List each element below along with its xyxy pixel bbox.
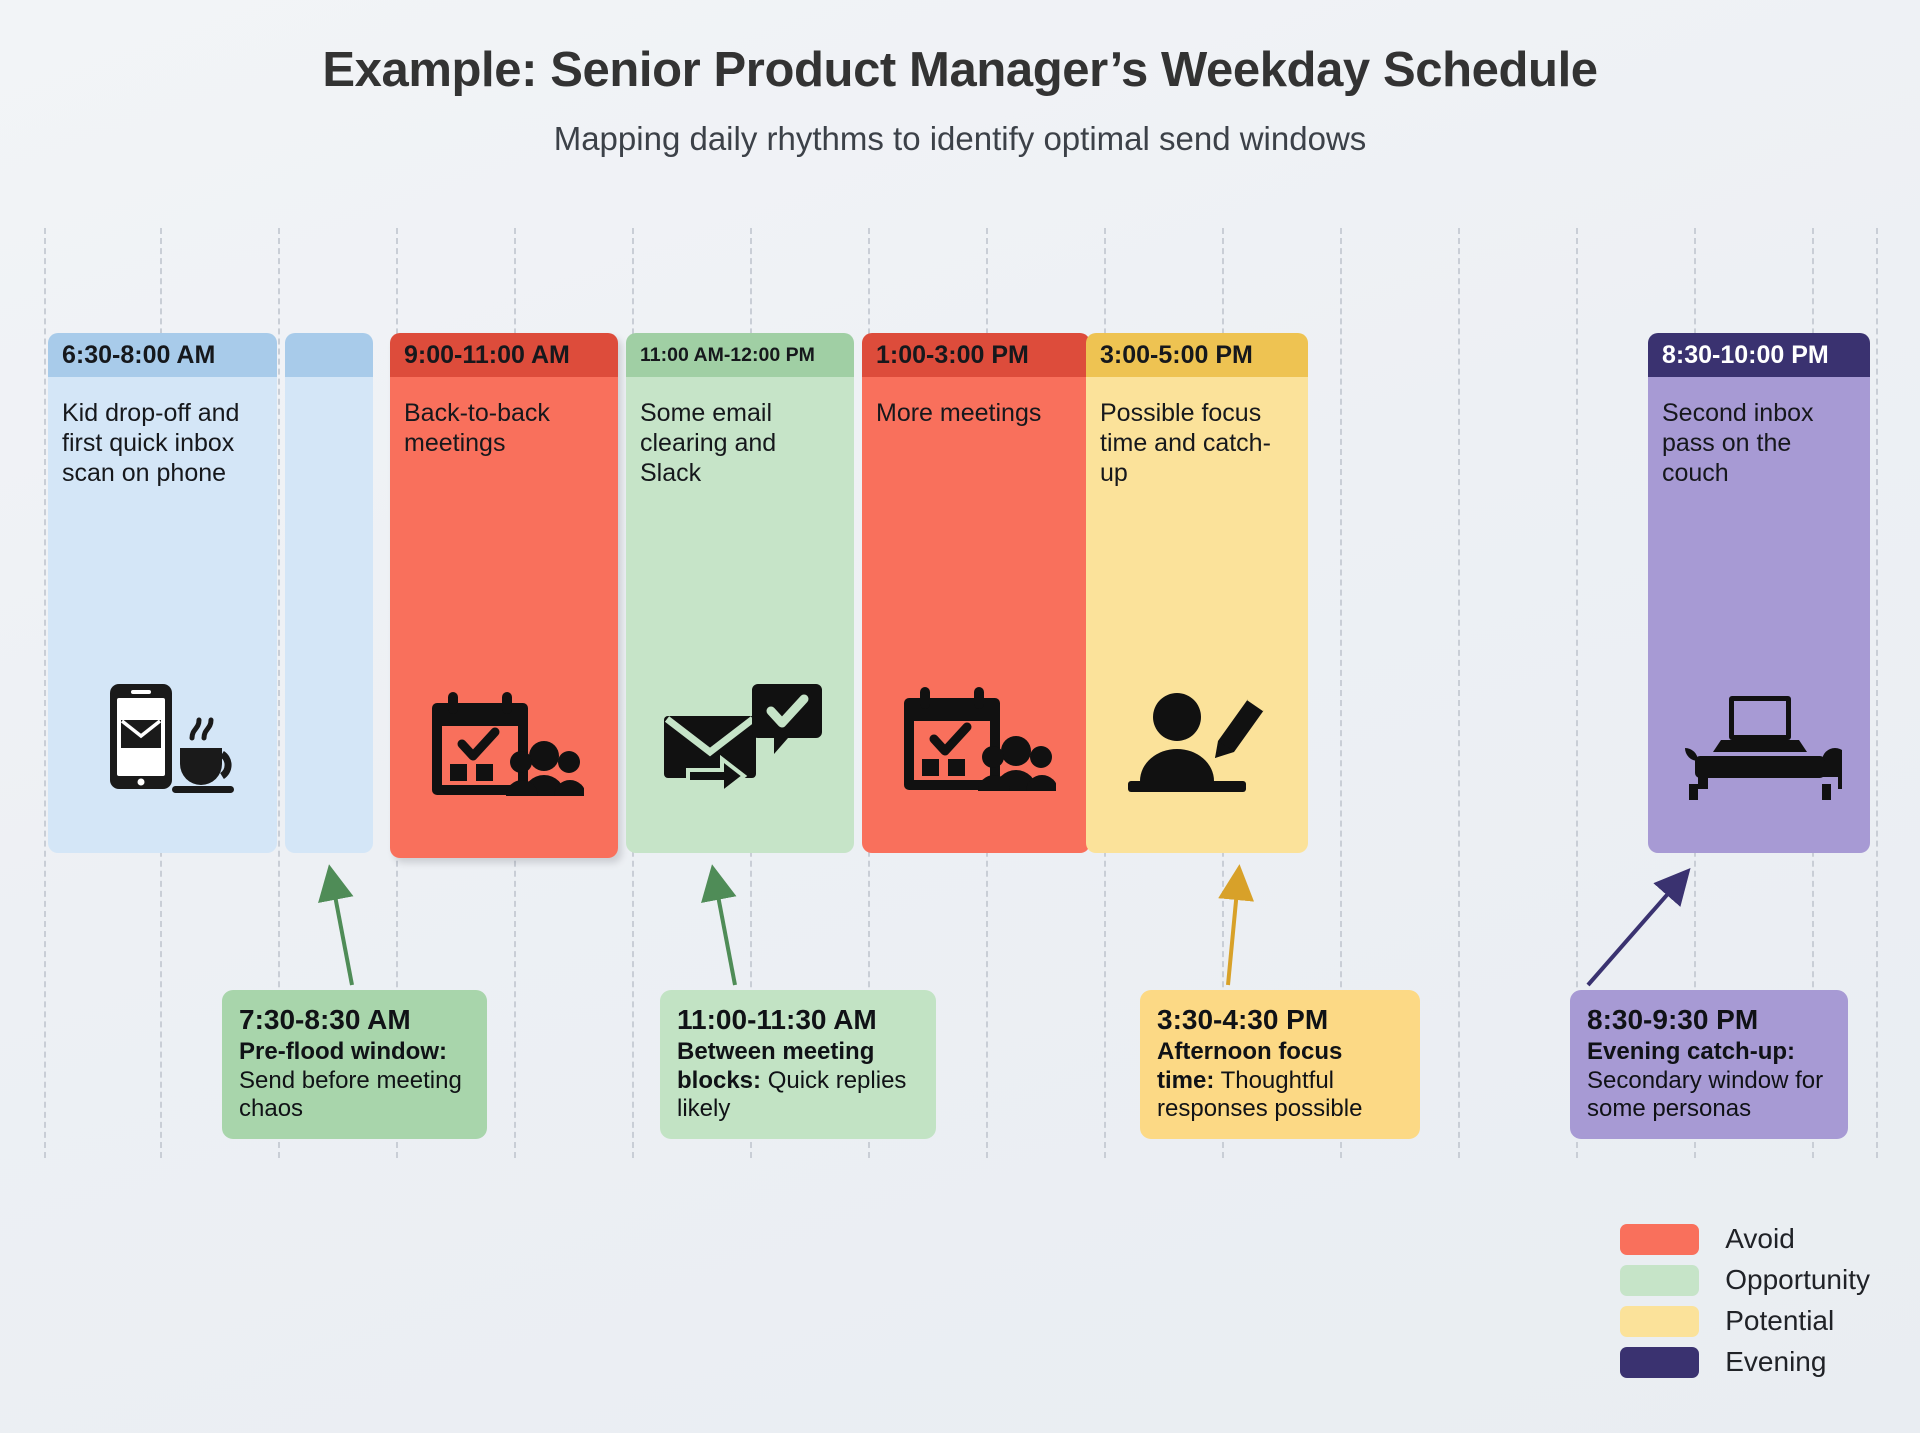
annotation-label: Pre-flood window:: [239, 1038, 447, 1065]
timeline-blocks: 6:30-8:00 AM Kid drop-off and first quic…: [0, 0, 1920, 1433]
legend-label: Evening: [1725, 1346, 1826, 1378]
timeline-block-description: Kid drop-off and first quick inbox scan …: [48, 377, 277, 853]
annotation-label: Evening catch-up:: [1587, 1038, 1795, 1065]
timeline-block-time: 3:00-5:00 PM: [1086, 333, 1308, 377]
legend-swatch-potential: [1620, 1306, 1699, 1337]
annotation-text: Between meeting blocks: Quick replies li…: [677, 1038, 919, 1122]
annotation-evening-catchup[interactable]: 8:30-9:30 PM Evening catch-up: Secondary…: [1570, 990, 1848, 1139]
legend-item-evening: Evening: [1620, 1346, 1870, 1378]
timeline-block-description: Possible focus time and catch-up: [1086, 377, 1308, 853]
annotation-detail: Secondary window for some personas: [1587, 1067, 1823, 1122]
timeline-block-evening-inbox[interactable]: 8:30-10:00 PM Second inbox pass on the c…: [1648, 333, 1870, 853]
legend-label: Potential: [1725, 1305, 1834, 1337]
timeline-block-time: [285, 333, 373, 377]
legend-swatch-avoid: [1620, 1224, 1699, 1255]
annotation-text: Afternoon focus time: Thoughtful respons…: [1157, 1038, 1403, 1122]
timeline-block-time: 1:00-3:00 PM: [862, 333, 1090, 377]
legend-item-opportunity: Opportunity: [1620, 1264, 1870, 1296]
annotation-time: 7:30-8:30 AM: [239, 1004, 470, 1036]
timeline-block-morning-meetings[interactable]: 9:00-11:00 AM Back-to-back meetings: [390, 333, 618, 858]
timeline-block-commute-gap[interactable]: [285, 333, 373, 853]
annotation-text: Evening catch-up: Secondary window for s…: [1587, 1038, 1831, 1122]
timeline-block-description: [285, 377, 373, 853]
annotation-detail: Send before meeting chaos: [239, 1067, 462, 1122]
timeline-block-time: 8:30-10:00 PM: [1648, 333, 1870, 377]
annotation-time: 3:30-4:30 PM: [1157, 1004, 1403, 1036]
timeline-block-morning-routine[interactable]: 6:30-8:00 AM Kid drop-off and first quic…: [48, 333, 277, 853]
legend-label: Opportunity: [1725, 1264, 1870, 1296]
timeline-block-time: 6:30-8:00 AM: [48, 333, 277, 377]
annotation-time: 8:30-9:30 PM: [1587, 1004, 1831, 1036]
annotation-text: Pre-flood window: Send before meeting ch…: [239, 1038, 470, 1122]
legend-item-avoid: Avoid: [1620, 1223, 1870, 1255]
legend: Avoid Opportunity Potential Evening: [1620, 1223, 1870, 1387]
annotation-between-blocks[interactable]: 11:00-11:30 AM Between meeting blocks: Q…: [660, 990, 936, 1139]
legend-label: Avoid: [1725, 1223, 1795, 1255]
timeline-block-time: 9:00-11:00 AM: [390, 333, 618, 377]
legend-swatch-evening: [1620, 1347, 1699, 1378]
legend-item-potential: Potential: [1620, 1305, 1870, 1337]
timeline-block-description: Some email clearing and Slack: [626, 377, 854, 853]
annotation-time: 11:00-11:30 AM: [677, 1004, 919, 1036]
timeline-block-email-clearing[interactable]: 11:00 AM-12:00 PM Some email clearing an…: [626, 333, 854, 853]
timeline-block-description: More meetings: [862, 377, 1090, 853]
timeline-block-description: Second inbox pass on the couch: [1648, 377, 1870, 853]
timeline-block-afternoon-meetings[interactable]: 1:00-3:00 PM More meetings: [862, 333, 1090, 853]
timeline-block-description: Back-to-back meetings: [390, 377, 618, 858]
annotation-afternoon-focus[interactable]: 3:30-4:30 PM Afternoon focus time: Thoug…: [1140, 990, 1420, 1139]
annotation-pre-flood[interactable]: 7:30-8:30 AM Pre-flood window: Send befo…: [222, 990, 487, 1139]
timeline-block-focus-time[interactable]: 3:00-5:00 PM Possible focus time and cat…: [1086, 333, 1308, 853]
legend-swatch-opportunity: [1620, 1265, 1699, 1296]
timeline-block-time: 11:00 AM-12:00 PM: [626, 333, 854, 377]
